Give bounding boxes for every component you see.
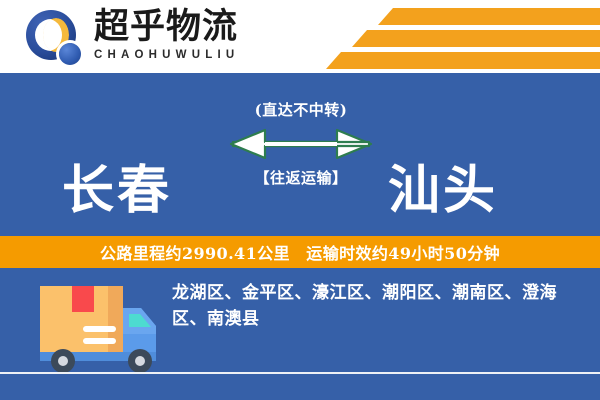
logistics-route-banner: 超乎物流 CHAOHUWULIU 长春 (直达不中转) 【往返运输】: [0, 0, 600, 400]
double-arrow-icon: [225, 122, 377, 166]
brand-name-en: CHAOHUWULIU: [94, 48, 284, 62]
stripe-1: [378, 8, 600, 25]
route-middle-group: (直达不中转) 【往返运输】: [222, 101, 380, 187]
logo-accent-dot: [59, 43, 81, 65]
destination-city: 汕头: [388, 162, 498, 220]
roundtrip-note: 【往返运输】: [222, 169, 380, 187]
coverage-section: 龙湖区、金平区、濠江区、潮阳区、潮南区、澄海区、南澳县: [0, 268, 600, 400]
brand-wordmark: 超乎物流 CHAOHUWULIU: [94, 8, 284, 62]
delivery-truck-icon: [28, 276, 168, 376]
coverage-districts-text: 龙湖区、金平区、濠江区、潮阳区、潮南区、澄海区、南澳县: [172, 280, 584, 332]
section-divider: [0, 372, 600, 374]
stripe-2: [352, 30, 600, 47]
distance-and-duration-text: 公路里程约2990.41公里 运输时效约49小时50分钟: [100, 240, 500, 264]
route-section: 长春 (直达不中转) 【往返运输】 汕头: [0, 73, 600, 233]
q-circle-logo-icon: [26, 10, 84, 66]
origin-city: 长春: [62, 162, 172, 220]
header-stripes-decoration: [330, 0, 600, 73]
stripe-3: [326, 52, 600, 69]
brand-name-cn: 超乎物流: [94, 8, 284, 46]
direct-service-note: (直达不中转): [222, 101, 380, 119]
banner-header: 超乎物流 CHAOHUWULIU: [0, 0, 600, 73]
route-info-bar: 公路里程约2990.41公里 运输时效约49小时50分钟: [0, 236, 600, 268]
